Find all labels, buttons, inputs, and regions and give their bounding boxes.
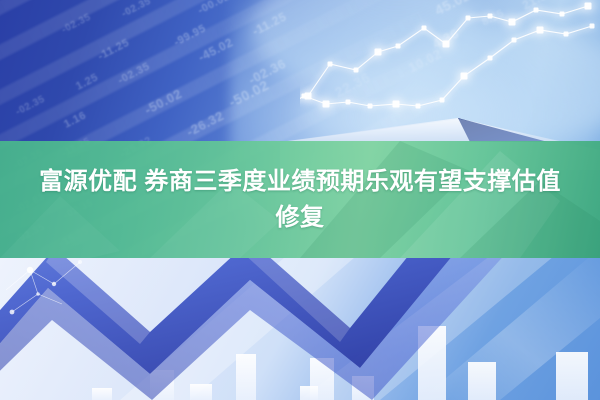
bar-column [190,384,212,400]
decor-number: -11.25 [250,9,289,38]
chart-node-marker [416,104,421,109]
chart-node-marker [302,94,307,99]
chart-node-marker [346,100,351,105]
chart-node-marker [488,14,493,19]
decor-number: -02.35 [60,12,93,36]
decor-number: -00.02 [196,0,232,17]
chart-node-marker [461,73,468,80]
decor-number: -50.02 [142,86,184,117]
bar-column [236,354,256,400]
decor-number: -11.25 [96,37,131,63]
chart-node-marker [440,98,445,103]
bar-column [92,388,112,400]
chart-node-marker [466,16,471,21]
decor-number: 1.16 [62,109,88,130]
decor-number: -99.95 [172,22,208,48]
chart-node-marker [443,41,450,48]
chart-node-marker [512,38,517,43]
chart-line [308,6,588,96]
chart-node-marker [323,101,330,108]
chart-node-marker [422,26,427,31]
chart-node-marker [488,56,493,61]
glowing-line-chart [300,0,600,150]
decor-number: 1.25 [74,71,100,92]
bar-column [556,352,588,400]
chart-node-marker [328,62,333,67]
decor-number: -02.35 [120,0,153,20]
chart-node-marker [375,49,382,56]
decor-number: -26.32 [184,108,226,139]
chart-node-marker [368,104,373,109]
chart-node-marker [564,32,569,37]
chart-node-marker [585,3,592,10]
decor-number: -45.02 [196,35,235,64]
banner-title: 富源优配 券商三季度业绩预期乐观有望支撑估值 修复 [0,141,600,258]
title-line-2: 修复 [276,203,325,233]
chart-node-marker [393,101,400,108]
chart-node-marker [534,8,539,13]
chart-node-marker [560,12,565,17]
decor-number: -02.35 [14,94,47,118]
bar-column [300,386,318,400]
chart-node-marker [354,68,359,73]
chart-node-marker [509,19,516,26]
chart-node-marker [537,27,544,34]
sparkle-network [0,250,120,330]
decor-number: -50.02 [226,77,271,111]
stock-news-banner: -00.0245.0221.56-02.35-99.95-11.254.368.… [0,0,600,400]
chart-node-marker [590,24,595,29]
decor-number: -02.35 [116,60,152,86]
chart-node-marker [396,44,401,49]
title-line-1: 富源优配 券商三季度业绩预期乐观有望支撑估值 [39,167,561,197]
bar-column [468,362,496,400]
